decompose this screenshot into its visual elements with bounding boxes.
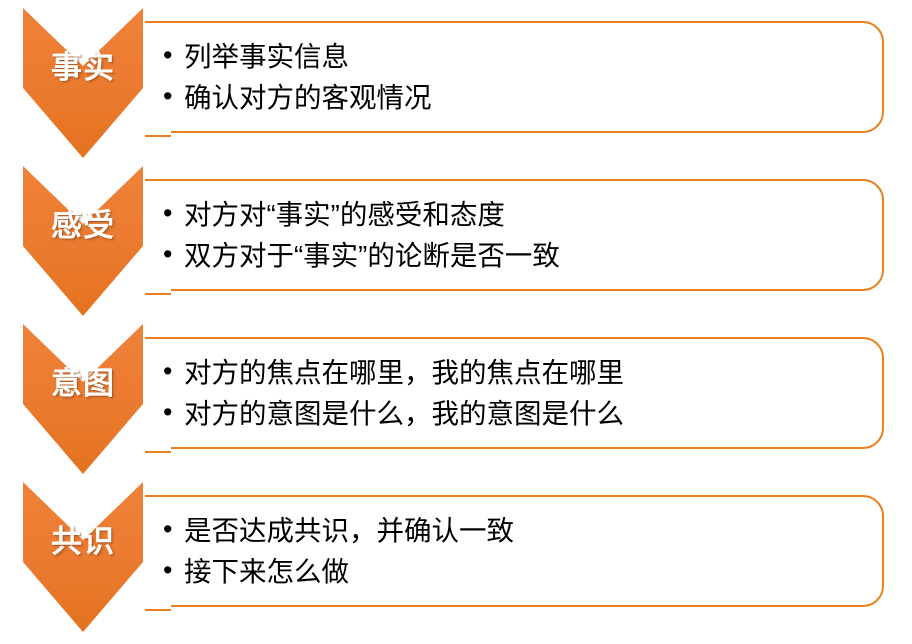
chevron-shape-feeling[interactable]: 感受	[23, 166, 143, 324]
list-item: 对方对“事实”的感受和态度	[163, 194, 863, 235]
list-item: 确认对方的客观情况	[163, 77, 863, 118]
list-item: 是否达成共识，并确认一致	[163, 510, 863, 551]
callout-box-consensus[interactable]: 是否达成共识，并确认一致 接下来怎么做	[145, 495, 884, 607]
chevron-arrow-icon	[23, 482, 143, 640]
list-item: 对方的意图是什么，我的意图是什么	[163, 393, 863, 434]
callout-box-fact[interactable]: 列举事实信息 确认对方的客观情况	[145, 21, 884, 133]
bullet-list-consensus: 是否达成共识，并确认一致 接下来怎么做	[163, 510, 863, 593]
process-step-intent[interactable]: 意图 对方的焦点在哪里，我的焦点在哪里 对方的意图是什么，我的意图是什么	[0, 324, 912, 484]
process-diagram: 事实 列举事实信息 确认对方的客观情况 感受	[0, 0, 912, 644]
process-step-consensus[interactable]: 共识 是否达成共识，并确认一致 接下来怎么做	[0, 482, 912, 642]
chevron-arrow-icon	[23, 166, 143, 324]
list-item: 接下来怎么做	[163, 551, 863, 592]
list-item: 列举事实信息	[163, 36, 863, 77]
process-step-feeling[interactable]: 感受 对方对“事实”的感受和态度 双方对于“事实”的论断是否一致	[0, 166, 912, 326]
chevron-arrow-icon	[23, 8, 143, 166]
chevron-shape-fact[interactable]: 事实	[23, 8, 143, 166]
list-item: 对方的焦点在哪里，我的焦点在哪里	[163, 352, 863, 393]
chevron-shape-intent[interactable]: 意图	[23, 324, 143, 482]
process-step-fact[interactable]: 事实 列举事实信息 确认对方的客观情况	[0, 8, 912, 168]
chevron-arrow-icon	[23, 324, 143, 482]
list-item: 双方对于“事实”的论断是否一致	[163, 235, 863, 276]
bullet-list-fact: 列举事实信息 确认对方的客观情况	[163, 36, 863, 119]
callout-box-intent[interactable]: 对方的焦点在哪里，我的焦点在哪里 对方的意图是什么，我的意图是什么	[145, 337, 884, 449]
bullet-list-intent: 对方的焦点在哪里，我的焦点在哪里 对方的意图是什么，我的意图是什么	[163, 352, 863, 435]
chevron-shape-consensus[interactable]: 共识	[23, 482, 143, 640]
bullet-list-feeling: 对方对“事实”的感受和态度 双方对于“事实”的论断是否一致	[163, 194, 863, 277]
callout-box-feeling[interactable]: 对方对“事实”的感受和态度 双方对于“事实”的论断是否一致	[145, 179, 884, 291]
